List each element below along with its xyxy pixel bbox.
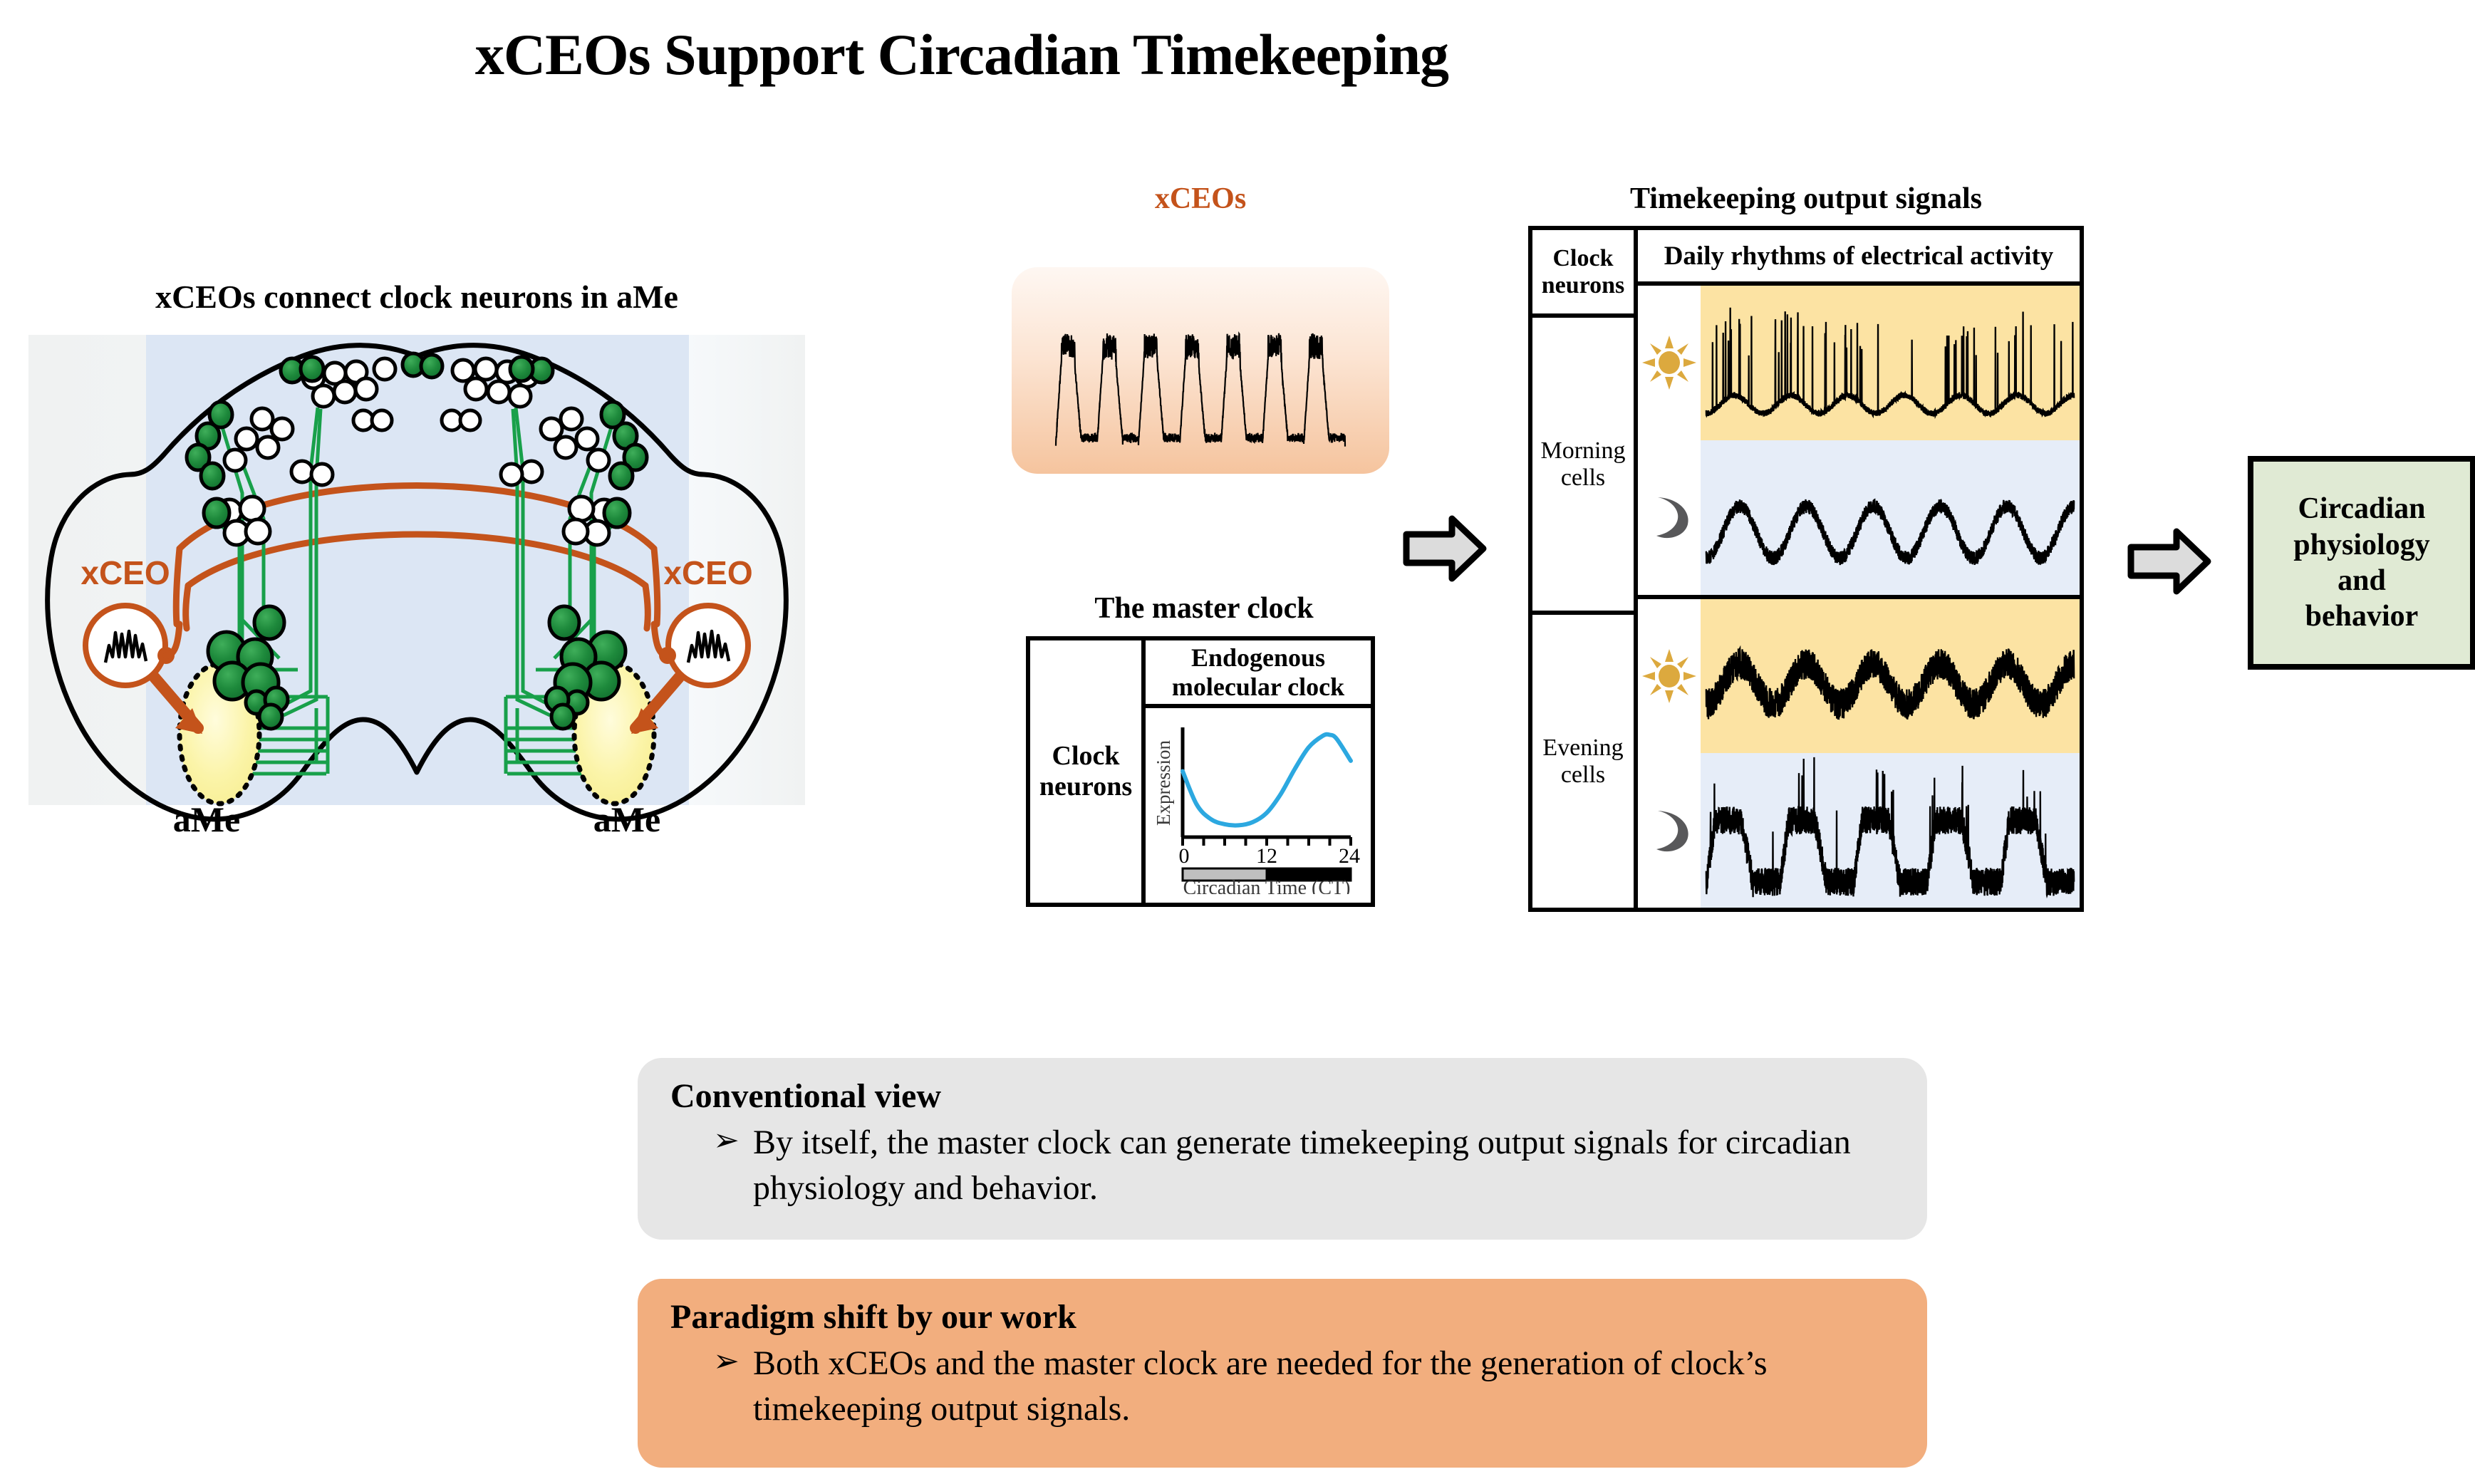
master-clock-column-header: Endogenous molecular clock [1146, 640, 1371, 708]
xceos-panel-label: xCEOs [1012, 182, 1389, 216]
conventional-view-text: By itself, the master clock can generate… [753, 1120, 1894, 1211]
ame-label-left: aMe [173, 799, 240, 839]
ame-label-right: aMe [593, 799, 660, 839]
sun-icon [1638, 599, 1701, 754]
table-row-label-morning: Morning cells [1532, 318, 1634, 615]
tk-group-evening-line2: cells [1561, 762, 1605, 788]
master-clock-column-header-line1: Endogenous [1191, 643, 1325, 672]
table-row [1638, 599, 2080, 754]
output-line1: Circadian [2298, 492, 2426, 525]
output-line4: behavior [2305, 600, 2419, 633]
conventional-view-title: Conventional view [670, 1076, 1894, 1116]
paradigm-shift-text: Both xCEOs and the master clock are need… [753, 1341, 1894, 1432]
master-clock-label: The master clock [1026, 591, 1382, 626]
xtick-24: 24 [1339, 844, 1360, 868]
output-box: Circadian physiology and behavior [2248, 456, 2475, 670]
table-row [1638, 753, 2080, 908]
table-row-label-evening: Evening cells [1532, 615, 1634, 908]
master-clock-row-header: Clock neurons [1030, 640, 1146, 903]
paradigm-shift-box: Paradigm shift by our work ➢ Both xCEOs … [638, 1279, 1927, 1468]
expression-curve [1183, 734, 1351, 825]
table-row [1638, 286, 2080, 440]
tk-neurons-header-line1: Clock [1553, 245, 1614, 271]
tk-group-evening-line1: Evening [1542, 735, 1623, 761]
xceo-label-right: xCEO [663, 554, 752, 591]
xtick-0: 0 [1179, 844, 1190, 868]
xceos-trace-panel [1012, 267, 1389, 474]
tk-group-morning-line1: Morning [1541, 437, 1626, 464]
trace-evening-day [1701, 599, 2080, 754]
tk-neurons-header-line2: neurons [1542, 272, 1625, 299]
trace-evening-night [1701, 753, 2080, 908]
master-clock-column-header-line2: molecular clock [1172, 673, 1344, 701]
arrow-to-timekeeping [1402, 514, 1488, 586]
moon-icon [1638, 753, 1701, 908]
xceo-label-left: xCEO [81, 554, 170, 591]
master-clock-row-header-line1: Clock [1052, 741, 1120, 771]
brain-illustration: xCEO xCEO aMe aMe [28, 335, 805, 841]
master-clock-row-header-line2: neurons [1039, 772, 1132, 801]
moon-icon [1638, 440, 1701, 595]
table-row [1638, 440, 2080, 599]
timekeeping-traces-header: Daily rhythms of electrical activity [1638, 230, 2080, 286]
trace-morning-night [1701, 440, 2080, 595]
x-axis-label: Circadian Time (CT) [1183, 877, 1351, 894]
output-line3: and [2337, 564, 2386, 597]
page-title: xCEOs Support Circadian Timekeeping [0, 21, 1924, 88]
xtick-12: 12 [1256, 844, 1277, 868]
paradigm-shift-title: Paradigm shift by our work [670, 1297, 1894, 1337]
timekeeping-label: Timekeeping output signals [1528, 182, 2084, 216]
brain-diagram-panel: xCEOs connect clock neurons in aMe [28, 278, 805, 841]
conventional-view-box: Conventional view ➢ By itself, the maste… [638, 1058, 1927, 1240]
master-clock-table: Clock neurons Endogenous molecular clock… [1026, 636, 1375, 907]
arrow-to-output [2127, 527, 2212, 599]
molecular-clock-chart: 0 12 24 Expression Circadian Time (CT) [1146, 708, 1371, 903]
tk-traces-header-text: Daily rhythms of electrical activity [1664, 241, 2054, 271]
trace-morning-day [1701, 286, 2080, 440]
bullet-arrow-icon: ➢ [713, 1120, 753, 1162]
timekeeping-neurons-header: Clock neurons [1532, 230, 1634, 318]
timekeeping-table: Clock neurons Morning cells Evening cell… [1528, 226, 2084, 912]
y-axis-label: Expression [1153, 740, 1174, 825]
sun-icon [1638, 286, 1701, 440]
xceos-spike-trace [1056, 333, 1345, 447]
bullet-arrow-icon: ➢ [713, 1341, 753, 1383]
brain-panel-caption: xCEOs connect clock neurons in aMe [28, 278, 805, 316]
tk-group-morning-line2: cells [1561, 465, 1605, 491]
output-line2: physiology [2293, 529, 2429, 561]
